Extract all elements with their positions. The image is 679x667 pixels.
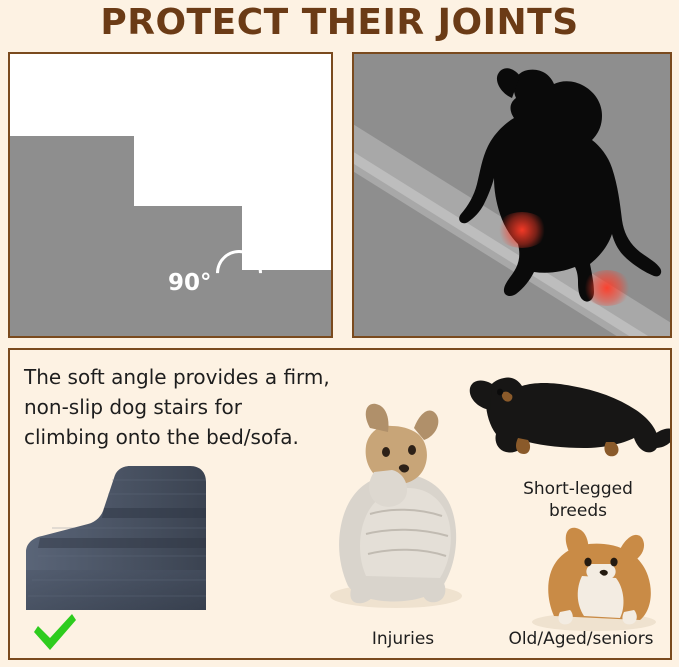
stair-step-bottom <box>10 136 134 338</box>
panel-solution: The soft angle provides a firm, non-slip… <box>8 348 672 660</box>
panel-difficulty-climbing: 90° Difficulty of climbing <box>8 52 333 338</box>
dog-stairs-product-image <box>18 460 228 620</box>
impact-glow-front <box>496 212 548 248</box>
solution-description: The soft angle provides a firm, non-slip… <box>24 362 330 452</box>
stairs-illustration: 90° <box>10 54 331 336</box>
photo-dachshund <box>456 358 672 478</box>
panel-slippery-floor: Slippery, easy to fall <box>352 52 672 338</box>
check-mark-icon <box>32 612 78 652</box>
label-old-aged-seniors: Old/Aged/seniors <box>488 628 672 650</box>
page-title: PROTECT THEIR JOINTS <box>0 2 679 43</box>
angle-label: 90° <box>168 270 212 296</box>
label-injuries: Injuries <box>328 628 478 650</box>
infographic-page: PROTECT THEIR JOINTS 90° Difficulty of c… <box>0 0 679 667</box>
label-short-legged-breeds: Short-legged breeds <box>488 478 668 522</box>
photo-corgi <box>508 520 672 632</box>
dog-silhouette-icon <box>450 64 668 314</box>
impact-glow-rear <box>582 270 632 306</box>
